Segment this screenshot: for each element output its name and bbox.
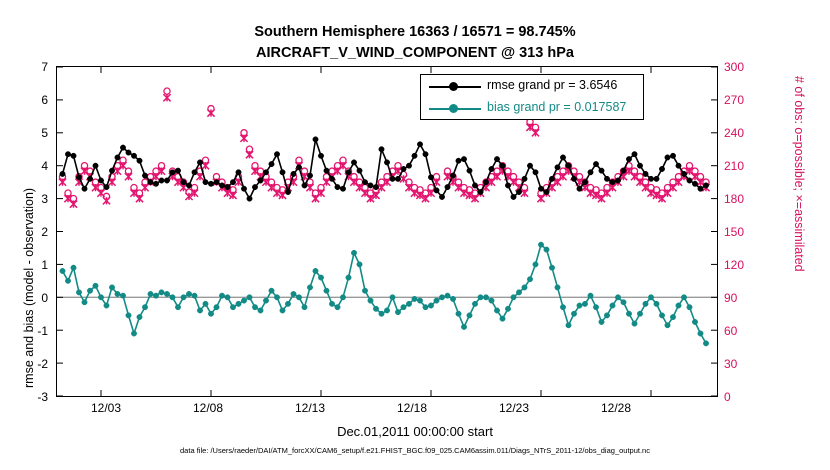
xtick-0: 12/03	[76, 401, 136, 415]
ytick-left-1: 6	[8, 93, 48, 107]
xtick-5: 12/28	[586, 401, 646, 415]
ytick-left-0: 7	[8, 60, 48, 74]
xtick-2: 12/13	[280, 401, 340, 415]
ytick-left-8: -1	[8, 324, 48, 338]
y-axis-label-right: # of obs: o=possible; ×=assimilated	[792, 76, 806, 272]
ytick-left-2: 5	[8, 126, 48, 140]
ytick-right-5: 150	[724, 225, 764, 239]
legend-item-rmse: rmse grand pr = 3.6546	[421, 75, 645, 98]
title-line-2: AIRCRAFT_V_WIND_COMPONENT @ 313 hPa	[0, 43, 830, 64]
xtick-4: 12/23	[484, 401, 544, 415]
x-axis-label: Dec.01,2011 00:00:00 start	[0, 424, 830, 439]
ytick-left-6: 1	[8, 258, 48, 272]
ytick-right-4: 180	[724, 192, 764, 206]
ytick-right-2: 240	[724, 126, 764, 140]
ytick-right-10: 0	[724, 390, 764, 404]
legend-marker-rmse	[449, 82, 458, 91]
ytick-left-5: 2	[8, 225, 48, 239]
ytick-right-7: 90	[724, 291, 764, 305]
chart-page: Southern Hemisphere 16363 / 16571 = 98.7…	[0, 0, 830, 470]
ytick-right-8: 60	[724, 324, 764, 338]
ytick-right-3: 210	[724, 159, 764, 173]
xtick-1: 12/08	[178, 401, 238, 415]
ytick-right-9: 30	[724, 357, 764, 371]
xtick-3: 12/18	[382, 401, 442, 415]
legend-label-rmse: rmse grand pr = 3.6546	[487, 78, 617, 92]
data-file-footer: data file: /Users/raeder/DAI/ATM_forcXX/…	[0, 446, 830, 455]
ytick-left-3: 4	[8, 159, 48, 173]
ytick-right-1: 270	[724, 93, 764, 107]
ytick-left-9: -2	[8, 357, 48, 371]
ytick-left-7: 0	[8, 291, 48, 305]
ytick-right-6: 120	[724, 258, 764, 272]
ytick-left-4: 3	[8, 192, 48, 206]
chart-title: Southern Hemisphere 16363 / 16571 = 98.7…	[0, 22, 830, 64]
title-line-1: Southern Hemisphere 16363 / 16571 = 98.7…	[0, 22, 830, 43]
ytick-left-10: -3	[8, 390, 48, 404]
legend: rmse grand pr = 3.6546 bias grand pr = 0…	[420, 74, 644, 120]
legend-label-bias: bias grand pr = 0.017587	[487, 100, 626, 114]
ytick-right-0: 300	[724, 60, 764, 74]
legend-marker-bias	[449, 104, 458, 113]
legend-item-bias: bias grand pr = 0.017587	[421, 97, 645, 120]
